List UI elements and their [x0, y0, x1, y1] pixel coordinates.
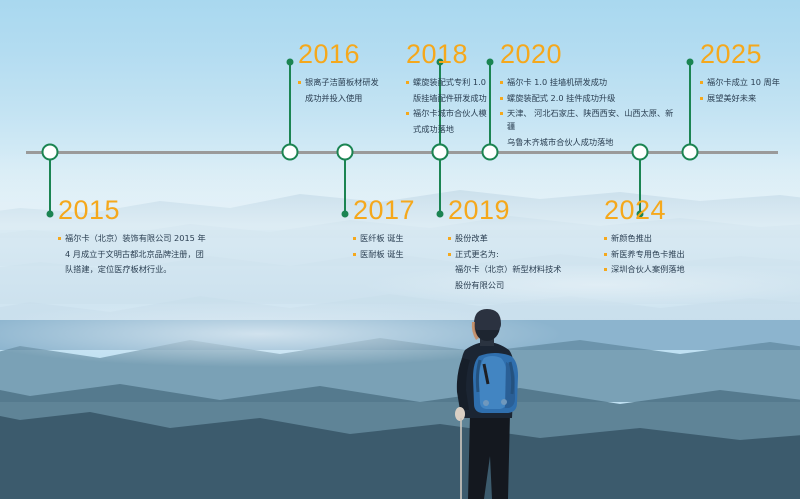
- timeline-node-2015[interactable]: [42, 144, 59, 161]
- bullet-dot-icon: [500, 81, 503, 84]
- bullet-dot-icon: [58, 237, 61, 240]
- bullet-dot-icon: [353, 237, 356, 240]
- year-label-2015: 2015: [58, 197, 233, 224]
- bullet-dot-icon: [448, 237, 451, 240]
- bullet-text: 福尔卡 1.0 挂墙机研发成功: [507, 76, 607, 89]
- year-label-2020: 2020: [500, 41, 680, 68]
- stem-2020: [489, 62, 491, 152]
- timeline-node-2024[interactable]: [632, 144, 649, 161]
- bullet-dot-icon: [448, 253, 451, 256]
- list-item: 股份有限公司: [448, 279, 568, 292]
- timeline-entry-2019: 2019 股份改革 正式更名为: 福尔卡（北京）新型材料技术 股份有限公司: [448, 197, 568, 295]
- bullets-2017: 医纤板 诞生 医耐板 诞生: [353, 232, 443, 260]
- list-item: 新颜色推出: [604, 232, 734, 245]
- timeline-entry-2024: 2024 新颜色推出 新医养专用色卡推出 深圳合伙人案例落地: [604, 197, 734, 279]
- timeline-node-2017[interactable]: [337, 144, 354, 161]
- bullet-text: 福尔卡（北京）装饰有限公司 2015 年: [65, 232, 206, 245]
- bullet-dot-icon: [500, 112, 503, 115]
- bullet-dot-icon: [406, 81, 409, 84]
- timeline-entry-2018: 2018 螺旋装配式专利 1.0 版挂墙配件研发成功 福尔卡城市合伙人模 式成功…: [406, 41, 506, 139]
- list-item: 福尔卡（北京）新型材料技术: [448, 263, 568, 276]
- stem-2019: [439, 152, 441, 214]
- bullet-text: 天津、 河北石家庄、陕西西安、山西太原、新疆: [507, 107, 680, 132]
- bullets-2025: 福尔卡成立 10 周年 展望美好未来: [700, 76, 800, 104]
- stem-dot-2016: [287, 59, 294, 66]
- list-item: 福尔卡成立 10 周年: [700, 76, 800, 89]
- bullet-text: 新医养专用色卡推出: [611, 248, 685, 261]
- list-item: 医耐板 诞生: [353, 248, 443, 261]
- mountain-ridge-7: [0, 378, 800, 499]
- bullet-dot-icon: [700, 97, 703, 100]
- bullet-text: 福尔卡成立 10 周年: [707, 76, 780, 89]
- bullet-text: 福尔卡城市合伙人模: [413, 107, 487, 120]
- list-item: 式成功落地: [406, 123, 506, 136]
- bullet-dot-icon: [604, 253, 607, 256]
- stem-dot-2019: [437, 211, 444, 218]
- timeline-entry-2016: 2016 银离子洁菌板材研发 成功并投入使用: [298, 41, 398, 107]
- stem-dot-2025: [687, 59, 694, 66]
- bullet-dot-icon: [700, 81, 703, 84]
- bullet-text: 螺旋装配式专利 1.0: [413, 76, 486, 89]
- bullet-dot-icon: [604, 268, 607, 271]
- timeline-infographic: 2015 福尔卡（北京）装饰有限公司 2015 年 4 月成立于文明古都北京品牌…: [0, 0, 800, 499]
- year-label-2025: 2025: [700, 41, 800, 68]
- hiker-figure: [432, 306, 550, 499]
- bullet-text: 正式更名为:: [455, 248, 499, 261]
- year-label-2016: 2016: [298, 41, 398, 68]
- list-item: 队搭建，定位医疗板材行业。: [58, 263, 233, 276]
- list-item: 医纤板 诞生: [353, 232, 443, 245]
- list-item: 螺旋装配式专利 1.0: [406, 76, 506, 89]
- timeline-entry-2015: 2015 福尔卡（北京）装饰有限公司 2015 年 4 月成立于文明古都北京品牌…: [58, 197, 233, 279]
- stem-dot-2017: [342, 211, 349, 218]
- year-label-2019: 2019: [448, 197, 568, 224]
- timeline-entry-2020: 2020 福尔卡 1.0 挂墙机研发成功 螺旋装配式 2.0 挂件成功升级 天津…: [500, 41, 680, 152]
- bullet-dot-icon: [353, 253, 356, 256]
- timeline-node-2025[interactable]: [682, 144, 699, 161]
- list-item: 正式更名为:: [448, 248, 568, 261]
- list-item: 福尔卡 1.0 挂墙机研发成功: [500, 76, 680, 89]
- list-item: 股份改革: [448, 232, 568, 245]
- bullets-2019: 股份改革 正式更名为: 福尔卡（北京）新型材料技术 股份有限公司: [448, 232, 568, 292]
- bullets-2015: 福尔卡（北京）装饰有限公司 2015 年 4 月成立于文明古都北京品牌注册，团 …: [58, 232, 233, 276]
- bullet-text: 医耐板 诞生: [360, 248, 404, 261]
- bullet-dot-icon: [500, 97, 503, 100]
- list-item: 展望美好未来: [700, 92, 800, 105]
- list-item: 福尔卡（北京）装饰有限公司 2015 年: [58, 232, 233, 245]
- list-item: 螺旋装配式 2.0 挂件成功升级: [500, 92, 680, 105]
- list-item: 版挂墙配件研发成功: [406, 92, 506, 105]
- stem-2015: [49, 152, 51, 214]
- bullets-2016: 银离子洁菌板材研发 成功并投入使用: [298, 76, 398, 104]
- stem-dot-2020: [487, 59, 494, 66]
- list-item: 4 月成立于文明古都北京品牌注册，团: [58, 248, 233, 261]
- bullets-2018: 螺旋装配式专利 1.0 版挂墙配件研发成功 福尔卡城市合伙人模 式成功落地: [406, 76, 506, 136]
- bullet-dot-icon: [406, 112, 409, 115]
- list-item: 银离子洁菌板材研发: [298, 76, 398, 89]
- bullet-text: 医纤板 诞生: [360, 232, 404, 245]
- bullet-text: 展望美好未来: [707, 92, 756, 105]
- list-item: 深圳合伙人案例落地: [604, 263, 734, 276]
- stem-2016: [289, 62, 291, 152]
- timeline-node-2020[interactable]: [482, 144, 499, 161]
- stem-2017: [344, 152, 346, 214]
- year-label-2024: 2024: [604, 197, 734, 224]
- list-item: 福尔卡城市合伙人模: [406, 107, 506, 120]
- bullet-text: 螺旋装配式 2.0 挂件成功升级: [507, 92, 615, 105]
- bullet-text: 深圳合伙人案例落地: [611, 263, 685, 276]
- bullets-2020: 福尔卡 1.0 挂墙机研发成功 螺旋装配式 2.0 挂件成功升级 天津、 河北石…: [500, 76, 680, 149]
- year-label-2017: 2017: [353, 197, 443, 224]
- list-item: 乌鲁木齐城市合伙人成功落地: [500, 136, 680, 149]
- stem-dot-2015: [47, 211, 54, 218]
- bullet-text: 股份改革: [455, 232, 488, 245]
- timeline-entry-2025: 2025 福尔卡成立 10 周年 展望美好未来: [700, 41, 800, 107]
- timeline-node-2019[interactable]: [432, 144, 449, 161]
- list-item: 成功并投入使用: [298, 92, 398, 105]
- bullet-text: 银离子洁菌板材研发: [305, 76, 379, 89]
- stem-2025: [689, 62, 691, 152]
- bullet-dot-icon: [298, 81, 301, 84]
- bullet-text: 新颜色推出: [611, 232, 652, 245]
- timeline-entry-2017: 2017 医纤板 诞生 医耐板 诞生: [353, 197, 443, 263]
- list-item: 天津、 河北石家庄、陕西西安、山西太原、新疆: [500, 107, 680, 132]
- list-item: 新医养专用色卡推出: [604, 248, 734, 261]
- timeline-node-2016[interactable]: [282, 144, 299, 161]
- bullet-dot-icon: [604, 237, 607, 240]
- bullets-2024: 新颜色推出 新医养专用色卡推出 深圳合伙人案例落地: [604, 232, 734, 276]
